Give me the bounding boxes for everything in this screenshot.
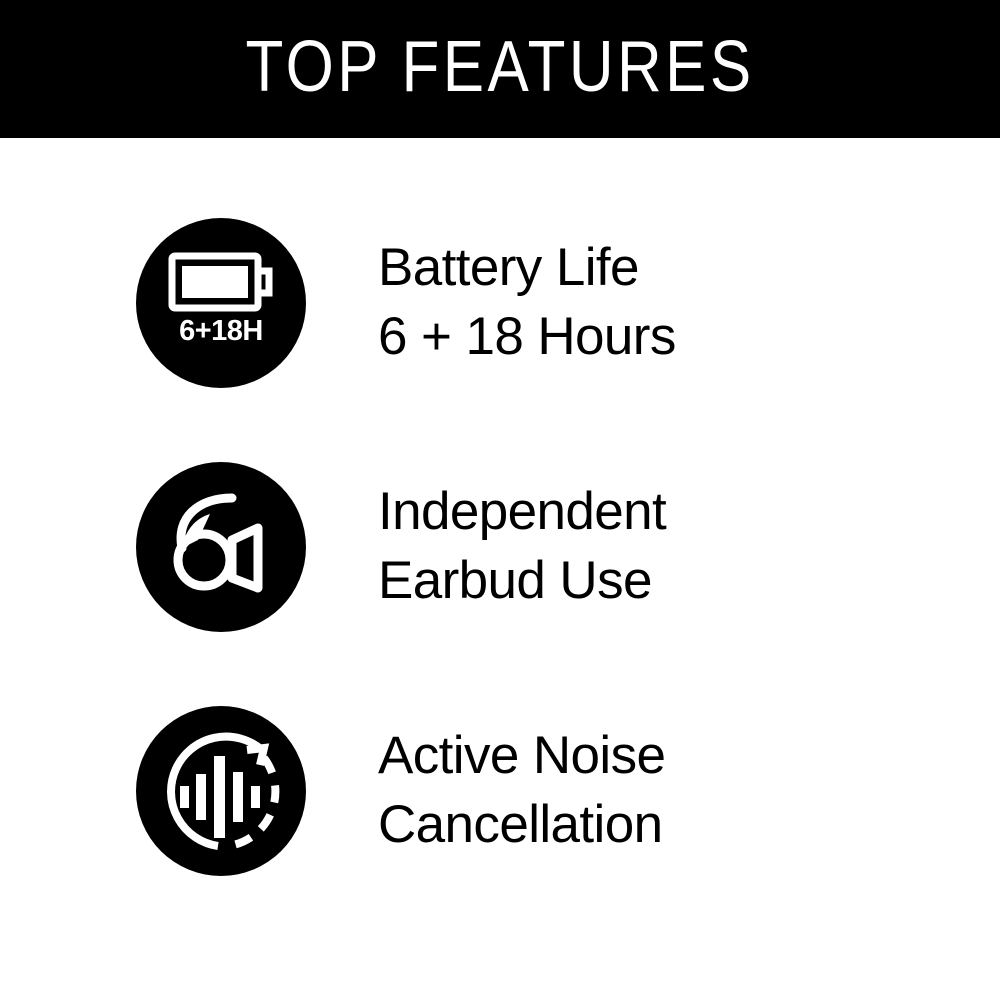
battery-icon-badge: 6+18H	[136, 218, 306, 388]
earbud-icon	[136, 462, 306, 632]
feature-label-line-2: Earbud Use	[378, 547, 956, 616]
earbud-icon-badge	[136, 462, 306, 632]
sound-wave-bars	[180, 756, 260, 838]
feature-row: 6+18H Battery Life 6 + 18 Hours	[136, 218, 956, 388]
battery-hours-label: 6+18H	[179, 315, 263, 347]
feature-label: Battery Life 6 + 18 Hours	[378, 234, 956, 372]
top-features-card: TOP FEATURES 6+18H Battery Life 6 + 18 H…	[0, 0, 1000, 1000]
header-banner: TOP FEATURES	[0, 0, 1000, 138]
feature-label-line-2: 6 + 18 Hours	[378, 303, 956, 372]
feature-label: Active Noise Cancellation	[378, 722, 956, 860]
battery-icon: 6+18H	[136, 218, 306, 388]
feature-label-line-1: Battery Life	[378, 234, 956, 303]
page-title: TOP FEATURES	[245, 31, 754, 107]
feature-row: Active Noise Cancellation	[136, 706, 956, 876]
feature-label: Independent Earbud Use	[378, 478, 956, 616]
feature-label-line-2: Cancellation	[378, 791, 956, 860]
feature-label-line-1: Independent	[378, 478, 956, 547]
noise-cancellation-icon-badge	[136, 706, 306, 876]
noise-cancellation-icon	[136, 706, 306, 876]
feature-row: Independent Earbud Use	[136, 462, 956, 632]
feature-label-line-1: Active Noise	[378, 722, 956, 791]
